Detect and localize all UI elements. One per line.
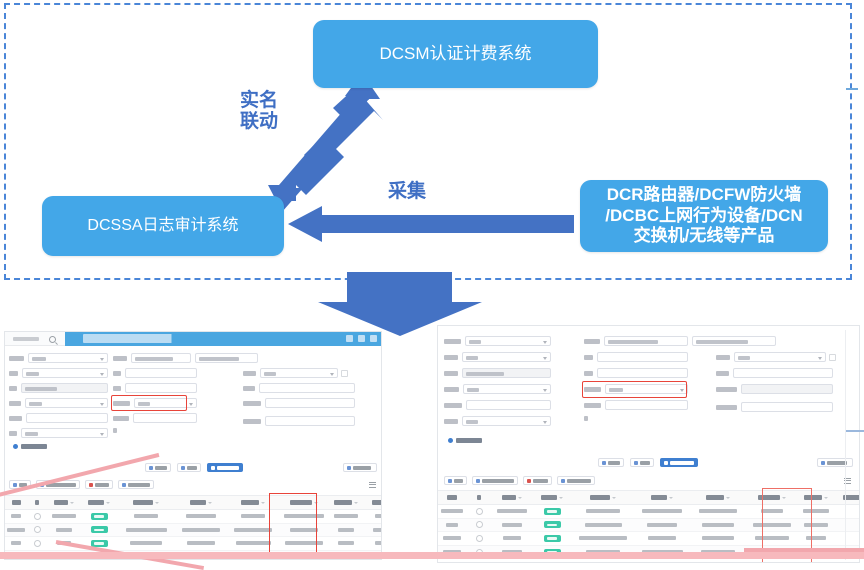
table-cell [47, 514, 81, 518]
highlight-box-protocol-field [582, 381, 687, 398]
row-select-radio[interactable] [466, 521, 492, 528]
column-header-status [532, 495, 572, 500]
table-cell [690, 536, 746, 540]
column-header-select [27, 500, 47, 505]
table-cell [572, 509, 634, 513]
right-edge-marker [846, 430, 864, 432]
highlight-box-auth-username-column [269, 493, 317, 560]
table-cell [690, 523, 746, 527]
table-cell [117, 528, 175, 532]
process-box-dcsm: DCSM认证计费系统 [313, 20, 598, 88]
row-select-radio[interactable] [27, 513, 47, 520]
process-box-devices: DCR路由器/DCFW防火墙 /DCBC上网行为设备/DCN 交换机/无线等产品 [580, 180, 828, 252]
batch-import-export-button[interactable] [472, 476, 518, 485]
query-button[interactable] [598, 458, 624, 467]
query-form[interactable] [5, 348, 381, 438]
column-header-index [438, 495, 466, 500]
section-header-more[interactable] [13, 444, 47, 449]
browser-search-bar[interactable] [5, 332, 67, 346]
table-cell [5, 541, 27, 545]
table-cell [438, 523, 466, 527]
reset-button[interactable] [177, 463, 201, 472]
status-badge [81, 526, 117, 533]
table-cell [572, 536, 634, 540]
highlight-box-protocol-field [111, 395, 187, 411]
arrow-label-collect: 采集 [388, 181, 426, 202]
window-controls[interactable] [346, 335, 377, 342]
table-cell [438, 509, 466, 513]
table-cell [363, 528, 382, 532]
row-select-radio[interactable] [466, 535, 492, 542]
table-cell [175, 541, 227, 545]
table-cell [634, 523, 690, 527]
table-cell [117, 541, 175, 545]
grid-density-icon[interactable] [369, 482, 376, 488]
section-dot-icon [448, 438, 453, 443]
status-badge [532, 508, 572, 515]
column-header-index [5, 500, 27, 505]
table-cell [5, 514, 27, 518]
status-badge [532, 535, 572, 542]
results-table[interactable] [5, 495, 381, 560]
column-header-port [329, 500, 363, 505]
table-cell [329, 528, 363, 532]
close-icon[interactable] [370, 335, 377, 342]
status-badge [532, 562, 572, 563]
status-badge [81, 513, 117, 520]
export-report-button[interactable] [207, 463, 243, 472]
row-select-radio[interactable] [27, 540, 47, 547]
column-header-auth-username [363, 500, 382, 505]
table-cell [492, 523, 532, 527]
column-header-time [572, 495, 634, 500]
collapse-toggle-button[interactable] [343, 463, 377, 472]
section-dot-icon [13, 444, 18, 449]
column-settings-button[interactable] [118, 480, 154, 489]
column-header-device [492, 495, 532, 500]
screenshot-right-app[interactable] [437, 325, 860, 563]
process-box-dcsm-label: DCSM认证计费系统 [379, 44, 531, 65]
table-cell [175, 528, 227, 532]
column-header-status [81, 500, 117, 505]
table-cell [492, 509, 532, 513]
column-header-device [47, 500, 81, 505]
table-cell [363, 514, 382, 518]
table-cell [438, 536, 466, 540]
window-title-bar [65, 332, 382, 346]
row-select-radio[interactable] [466, 508, 492, 515]
table-cell [175, 514, 227, 518]
status-badge [532, 521, 572, 528]
maximize-icon[interactable] [358, 335, 365, 342]
process-box-dcssa: DCSSA日志审计系统 [42, 196, 284, 256]
reset-button[interactable] [630, 458, 654, 467]
export-report-button[interactable] [660, 458, 698, 467]
table-cell [47, 528, 81, 532]
search-text-placeholder [13, 337, 39, 341]
annotation-band-bottom [0, 552, 864, 559]
table-cell [634, 536, 690, 540]
table-cell [634, 509, 690, 513]
column-header-dest-ip [690, 495, 746, 500]
section-header-more[interactable] [448, 438, 482, 443]
table-cell [5, 528, 27, 532]
column-header-select [466, 495, 492, 500]
form-action-buttons[interactable] [145, 463, 243, 472]
process-box-devices-line1: DCR路由器/DCFW防火墙 [607, 185, 802, 206]
collapse-toggle-button[interactable] [817, 458, 853, 467]
column-header-source-ip [634, 495, 690, 500]
process-box-devices-line2: /DCBC上网行为设备/DCN [605, 206, 802, 227]
section-header-label [456, 438, 482, 443]
column-settings-button[interactable] [557, 476, 595, 485]
column-header-auth-username [834, 495, 860, 500]
table-row[interactable] [5, 524, 381, 538]
annotation-stroke-right [744, 548, 864, 552]
delete-button[interactable] [85, 480, 113, 489]
delete-button[interactable] [523, 476, 552, 485]
process-box-devices-line3: 交换机/无线等产品 [634, 226, 775, 247]
table-cell [363, 541, 382, 545]
query-form[interactable] [438, 332, 859, 424]
section-header-label [21, 444, 47, 449]
column-header-time [117, 500, 175, 505]
process-box-dcssa-label: DCSSA日志审计系统 [87, 216, 238, 236]
search-icon[interactable] [49, 336, 56, 343]
edge-tick-mark [846, 88, 858, 90]
right-panel-divider [845, 330, 846, 560]
add-button[interactable] [444, 476, 467, 485]
arrow-label-realname: 实名 联动 [240, 90, 278, 133]
table-cell [690, 509, 746, 513]
query-button[interactable] [145, 463, 171, 472]
table-row[interactable] [5, 510, 381, 524]
window-title-text [83, 334, 179, 343]
row-select-radio[interactable] [27, 526, 47, 533]
table-cell [492, 536, 532, 540]
table-cell [329, 514, 363, 518]
row-select-radio[interactable] [466, 562, 492, 563]
table-cell [572, 523, 634, 527]
column-header-source-ip [175, 500, 227, 505]
table-cell [329, 541, 363, 545]
form-action-buttons[interactable] [598, 458, 698, 467]
screenshot-left-app[interactable] [4, 331, 382, 560]
minimize-icon[interactable] [346, 335, 353, 342]
table-cell [117, 514, 175, 518]
table-header-row [5, 495, 381, 510]
table-toolbar[interactable] [444, 476, 595, 485]
